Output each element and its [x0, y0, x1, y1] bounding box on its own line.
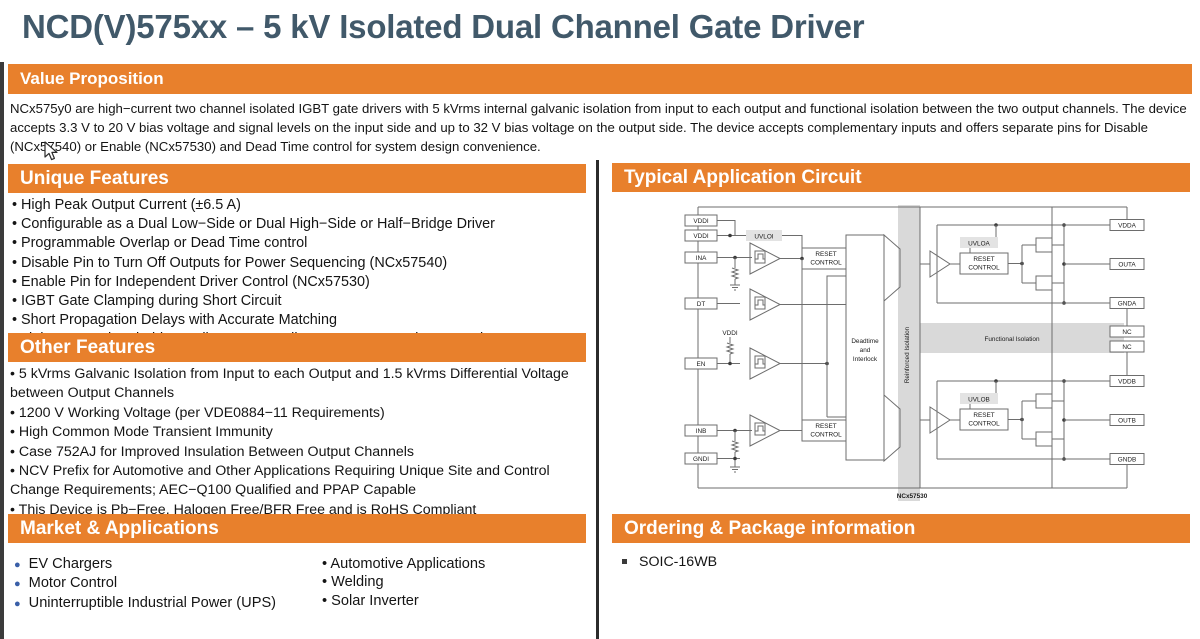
- vddi-pullup-label: VDDI: [722, 330, 737, 337]
- list-item: ● Uninterruptible Industrial Power (UPS): [14, 595, 314, 614]
- section-header-market-applications: Market & Applications: [8, 514, 586, 543]
- pin-label: VDDA: [1118, 223, 1136, 230]
- reinforced-isolation-label: Reinforced Isolation: [904, 326, 911, 383]
- pin-label: INB: [696, 428, 707, 435]
- list-item-label: SOIC-16WB: [639, 554, 717, 570]
- mosfet-high-a: [1036, 238, 1052, 252]
- pin-label: NC: [1122, 329, 1132, 336]
- bullet-icon: ●: [14, 557, 21, 575]
- pin-label: EN: [697, 361, 706, 368]
- list-item: • Welding: [322, 574, 582, 592]
- section-header-unique-features: Unique Features: [8, 164, 586, 193]
- section-header-value-proposition: Value Proposition: [8, 64, 1192, 94]
- left-border-rail: [0, 62, 4, 639]
- list-item: • 5 kVrms Galvanic Isolation from Input …: [10, 365, 588, 404]
- list-item: • Short Propagation Delays with Accurate…: [12, 311, 587, 330]
- reset-label: RESET: [973, 256, 994, 263]
- list-item: • Automotive Applications: [322, 556, 582, 574]
- list-item: • Configurable as a Dual Low−Side or Dua…: [12, 215, 587, 234]
- square-bullet-icon: [622, 559, 627, 564]
- device-label: NCx57530: [897, 493, 928, 500]
- list-item: • IGBT Gate Clamping during Short Circui…: [12, 292, 587, 311]
- pin-label: NC: [1122, 344, 1132, 351]
- mosfet-low-b: [1036, 432, 1052, 446]
- pin-label: GNDA: [1118, 301, 1137, 308]
- bullet-icon: ●: [14, 576, 21, 594]
- reset-label: RESET: [973, 412, 994, 419]
- control-label: CONTROL: [810, 260, 842, 267]
- list-item: • 1200 V Working Voltage (per VDE0884−11…: [10, 404, 588, 423]
- section-header-ordering-package: Ordering & Package information: [612, 514, 1190, 543]
- junction-dot: [733, 457, 737, 461]
- list-item-label: Uninterruptible Industrial Power (UPS): [29, 595, 276, 613]
- list-item: • Case 752AJ for Improved Insulation Bet…: [10, 443, 588, 462]
- pin-label: VDDI: [693, 233, 708, 240]
- junction-dot: [728, 234, 732, 238]
- list-item: • Programmable Overlap or Dead Time cont…: [12, 234, 587, 253]
- list-item: ● EV Chargers: [14, 556, 314, 575]
- reset-label: RESET: [815, 423, 836, 430]
- market-applications-column-1: ● EV Chargers ● Motor Control ● Uninterr…: [14, 556, 314, 614]
- uvloa-label: UVLOA: [968, 241, 990, 248]
- typical-application-circuit-diagram: .w{fill:none;stroke:#6d6d6d;stroke-width…: [612, 195, 1190, 510]
- mosfet-low-a: [1036, 276, 1052, 290]
- control-label: CONTROL: [968, 265, 1000, 272]
- pin-label: GNDI: [693, 456, 709, 463]
- list-item: • Solar Inverter: [322, 593, 582, 611]
- list-item-label: Motor Control: [29, 575, 117, 593]
- list-item: • High Peak Output Current (±6.5 A): [12, 196, 587, 215]
- page-title: NCD(V)575xx – 5 kV Isolated Dual Channel…: [22, 8, 864, 46]
- pin-label: GNDB: [1118, 457, 1136, 464]
- value-proposition-body: NCx575y0 are high−current two channel is…: [10, 99, 1190, 156]
- list-item: • Enable Pin for Independent Driver Cont…: [12, 273, 587, 292]
- uvloi-label: UVLOI: [754, 234, 773, 241]
- pin-label: VDDB: [1118, 379, 1136, 386]
- pin-label: VDDI: [693, 218, 708, 225]
- column-divider: [596, 160, 599, 639]
- receiver-buffer-a: [930, 251, 950, 277]
- mosfet-high-b: [1036, 394, 1052, 408]
- market-applications-column-2: • Automotive Applications • Welding • So…: [322, 556, 582, 611]
- list-item: • NCV Prefix for Automotive and Other Ap…: [10, 462, 588, 501]
- uvlob-label: UVLOB: [968, 397, 990, 404]
- isolation-driver-a: [884, 235, 900, 301]
- list-item-label: EV Chargers: [29, 556, 113, 574]
- reset-label: RESET: [815, 251, 836, 258]
- list-item: ● Motor Control: [14, 575, 314, 594]
- deadtime-label-l3: Interlock: [853, 356, 878, 363]
- deadtime-label-l2: and: [860, 347, 871, 354]
- ordering-list: SOIC-16WB: [622, 554, 717, 570]
- unique-features-list: • High Peak Output Current (±6.5 A) • Co…: [12, 196, 587, 350]
- section-header-other-features: Other Features: [8, 333, 586, 362]
- control-label: CONTROL: [968, 421, 1000, 428]
- deadtime-label-l1: Deadtime: [851, 338, 879, 345]
- functional-isolation-label: Functional Isolation: [984, 336, 1040, 343]
- list-item: • High Common Mode Transient Immunity: [10, 423, 588, 442]
- control-label: CONTROL: [810, 432, 842, 439]
- section-header-typical-application-circuit: Typical Application Circuit: [612, 163, 1190, 192]
- other-features-list: • 5 kVrms Galvanic Isolation from Input …: [10, 365, 588, 520]
- junction-dot: [728, 362, 732, 366]
- pin-label: DT: [697, 301, 706, 308]
- bullet-icon: ●: [14, 596, 21, 614]
- slide-page: NCD(V)575xx – 5 kV Isolated Dual Channel…: [0, 0, 1200, 639]
- list-item: • Disable Pin to Turn Off Outputs for Po…: [12, 254, 587, 273]
- pin-label: INA: [696, 255, 707, 262]
- pin-label: OUTB: [1118, 418, 1136, 425]
- isolation-driver-b: [884, 395, 900, 461]
- pin-label: OUTA: [1118, 262, 1136, 269]
- receiver-buffer-b: [930, 407, 950, 433]
